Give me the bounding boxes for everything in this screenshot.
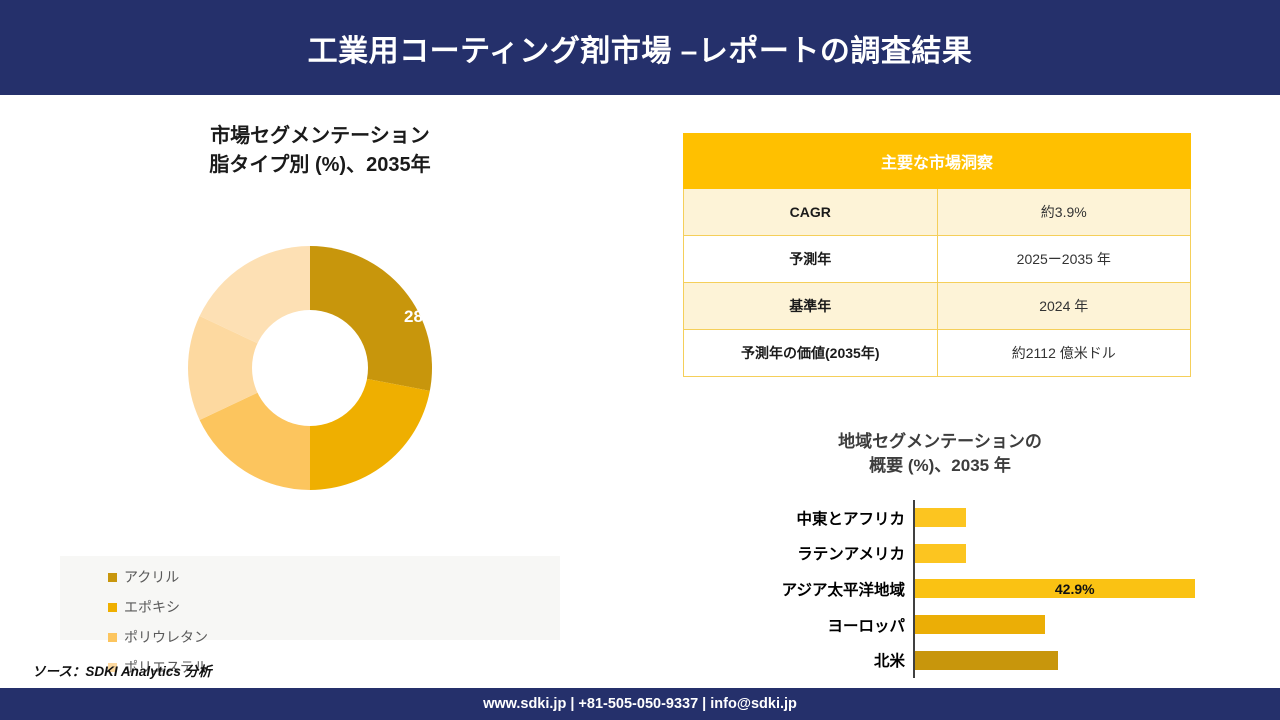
bar-title-line2: 概要 (%)、2035 年 <box>700 454 1180 478</box>
bar-fill <box>915 615 1045 634</box>
donut-chart <box>188 246 432 490</box>
footer-contact: www.sdki.jp | +81-505-050-9337 | info@sd… <box>483 696 797 712</box>
bar-chart-title: 地域セグメンテーションの 概要 (%)、2035 年 <box>700 430 1180 478</box>
bar-row: アジア太平洋地域42.9% <box>735 571 1215 607</box>
bar-track <box>913 500 1215 536</box>
donut-svg <box>188 246 432 490</box>
bar-value-label: 42.9% <box>1055 581 1095 597</box>
key-insights-table: 主要な市場洞察 CAGR約3.9%予測年2025ー2035 年基準年2024 年… <box>683 133 1191 377</box>
donut-title-line2: 脂タイプ別 (%)、2035年 <box>60 151 580 180</box>
bar-category-label: 中東とアフリカ <box>735 507 913 529</box>
bar-track <box>913 536 1215 572</box>
donut-legend: アクリルエポキシポリウレタンポリエステルその他（例：アルキド） <box>60 556 560 640</box>
legend-item-label: ポリウレタン <box>124 627 208 647</box>
bar-track <box>913 642 1215 678</box>
legend-item: エポキシ <box>108 592 336 622</box>
bar-row: ヨーロッパ <box>735 607 1215 643</box>
bar-fill <box>915 544 966 563</box>
bar-fill <box>915 651 1058 670</box>
table-cell-value: 2025ー2035 年 <box>937 236 1191 283</box>
legend-swatch-icon <box>108 633 117 642</box>
bar-category-label: アジア太平洋地域 <box>735 578 913 600</box>
bar-category-label: ヨーロッパ <box>735 614 913 636</box>
page-header: 工業用コーティング剤市場 –レポートの調査結果 <box>0 0 1280 95</box>
table-row: 予測年の価値(2035年)約2112 億米ドル <box>684 330 1191 377</box>
donut-chart-title: 市場セグメンテーション 脂タイプ別 (%)、2035年 <box>60 122 580 180</box>
bar-category-label: 北米 <box>735 649 913 671</box>
bar-row: 北米 <box>735 642 1215 678</box>
page-footer: www.sdki.jp | +81-505-050-9337 | info@sd… <box>0 688 1280 720</box>
bar-row: ラテンアメリカ <box>735 536 1215 572</box>
bar-category-label: ラテンアメリカ <box>735 542 913 564</box>
legend-item-label: エポキシ <box>124 597 180 617</box>
table-cell-key: 基準年 <box>684 283 938 330</box>
bar-fill <box>915 508 966 527</box>
bar-title-line1: 地域セグメンテーションの <box>700 430 1180 454</box>
table-cell-key: 予測年の価値(2035年) <box>684 330 938 377</box>
donut-slice-value-acrylic: 28% <box>404 307 438 327</box>
bar-track <box>913 607 1215 643</box>
page-title: 工業用コーティング剤市場 –レポートの調査結果 <box>308 26 973 70</box>
table-row: CAGR約3.9% <box>684 189 1191 236</box>
table-header-row: 主要な市場洞察 <box>684 134 1191 189</box>
bar-row: 中東とアフリカ <box>735 500 1215 536</box>
legend-swatch-icon <box>108 573 117 582</box>
donut-hole <box>252 310 368 426</box>
table-cell-value: 約3.9% <box>937 189 1191 236</box>
legend-item: アクリル <box>108 562 336 592</box>
table-cell-value: 2024 年 <box>937 283 1191 330</box>
donut-title-line1: 市場セグメンテーション <box>60 122 580 151</box>
legend-item-label: アクリル <box>124 567 179 587</box>
legend-item: ポリウレタン <box>108 622 336 652</box>
table-cell-value: 約2112 億米ドル <box>937 330 1191 377</box>
legend-swatch-icon <box>108 603 117 612</box>
source-note: ソース：SDKI Analytics 分析 <box>32 660 212 680</box>
table-header-title: 主要な市場洞察 <box>684 134 1191 189</box>
table-cell-key: CAGR <box>684 189 938 236</box>
regional-bar-chart: 中東とアフリカラテンアメリカアジア太平洋地域42.9%ヨーロッパ北米 <box>735 500 1215 678</box>
table-cell-key: 予測年 <box>684 236 938 283</box>
table-row: 基準年2024 年 <box>684 283 1191 330</box>
table-row: 予測年2025ー2035 年 <box>684 236 1191 283</box>
bar-track: 42.9% <box>913 571 1215 607</box>
